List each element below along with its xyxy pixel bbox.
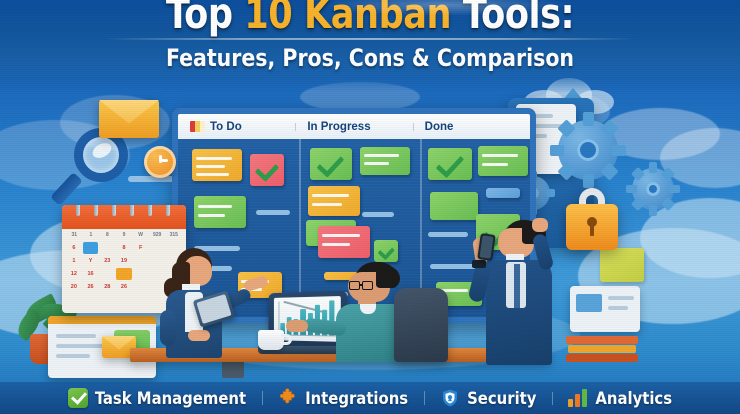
title-divider	[105, 38, 635, 40]
calendar-date[interactable]: 12	[66, 268, 82, 280]
page-subtitle: Features, Pros, Cons & Comparison	[19, 44, 722, 72]
feature-bar: Task Management Integrations Security	[0, 382, 740, 414]
calendar-weekday: 1	[83, 232, 100, 238]
kanban-placeholder-bar	[362, 212, 394, 217]
board-column-headers: To Do In Progress Done	[178, 114, 530, 139]
glow-accent	[320, 0, 570, 16]
calendar-date[interactable]: 19	[116, 255, 132, 267]
calendar-date[interactable]	[133, 268, 149, 280]
feature-item-security[interactable]: Security	[424, 388, 552, 408]
shield-icon	[440, 388, 460, 408]
feature-label: Analytics	[595, 389, 672, 408]
feature-item-task-management[interactable]: Task Management	[52, 388, 262, 408]
calendar-weekday: 8	[99, 232, 116, 238]
calendar-date[interactable]	[99, 268, 115, 280]
calendar-date[interactable]: 6	[66, 242, 82, 254]
kanban-placeholder-bar	[256, 210, 290, 215]
kanban-card[interactable]	[194, 196, 246, 228]
feature-label: Security	[467, 389, 536, 408]
calendar-date[interactable]: 23	[99, 255, 115, 267]
column-label: Done	[425, 121, 454, 133]
feature-item-integrations[interactable]: Integrations	[262, 388, 424, 408]
calendar-date[interactable]: Y	[83, 255, 99, 267]
clock-icon	[144, 146, 176, 178]
calendar-date[interactable]	[83, 242, 99, 254]
poster-canvas: 31189W929315 68F1Y2319121620262826	[0, 0, 740, 414]
check-icon	[68, 388, 88, 408]
calendar-weekday: 31	[66, 232, 83, 238]
kanban-card[interactable]	[428, 148, 472, 180]
calendar-date[interactable]: 28	[99, 281, 115, 293]
board-logo-icon	[190, 121, 205, 132]
kanban-card[interactable]	[308, 186, 360, 216]
calendar-date[interactable]	[99, 242, 115, 254]
kanban-card[interactable]	[318, 226, 370, 258]
kanban-placeholder-bar	[428, 232, 468, 237]
calendar-date[interactable]	[116, 268, 132, 280]
sticky-note-right	[600, 248, 644, 282]
kanban-card[interactable]	[478, 146, 528, 176]
column-header-todo[interactable]: To Do	[178, 121, 295, 133]
gear-icon-large	[558, 120, 618, 180]
title-part-1: Top	[166, 0, 244, 38]
column-header-done[interactable]: Done	[413, 121, 530, 133]
calendar-date[interactable]	[133, 281, 149, 293]
envelope-icon	[99, 100, 159, 138]
calendar-weekday: 315	[165, 232, 182, 238]
calendar-date[interactable]: 8	[116, 242, 132, 254]
puzzle-icon	[278, 388, 298, 408]
office-chair	[394, 288, 448, 362]
kanban-card[interactable]	[430, 192, 478, 220]
feature-item-analytics[interactable]: Analytics	[552, 389, 688, 408]
kanban-card[interactable]	[310, 148, 352, 180]
kanban-card[interactable]	[250, 154, 284, 186]
gear-icon-medium	[632, 168, 674, 210]
kanban-card[interactable]	[374, 240, 398, 262]
calendar-date[interactable]: 20	[66, 281, 82, 293]
calendar-date[interactable]	[133, 255, 149, 267]
kanban-card[interactable]	[360, 147, 410, 175]
calendar-date[interactable]: F	[133, 242, 149, 254]
column-divider	[299, 139, 301, 317]
kanban-card[interactable]	[486, 188, 520, 198]
calendar-date[interactable]: 16	[83, 268, 99, 280]
calendar-date[interactable]: 1	[66, 255, 82, 267]
mail-card-right	[570, 286, 640, 332]
calendar-weekday: 9	[116, 232, 133, 238]
column-header-inprogress[interactable]: In Progress	[295, 121, 412, 133]
calendar-weekday: W	[132, 232, 149, 238]
kanban-card[interactable]	[192, 149, 242, 181]
column-label: In Progress	[307, 121, 370, 133]
calendar-date[interactable]: 26	[83, 281, 99, 293]
bar-chart-icon	[568, 389, 588, 407]
feature-label: Task Management	[95, 389, 246, 408]
desk-leg	[222, 362, 244, 378]
calendar-weekdays: 31189W929315	[62, 229, 186, 241]
calendar-date[interactable]: 26	[116, 281, 132, 293]
feature-label: Integrations	[305, 389, 408, 408]
calendar-weekday: 929	[149, 232, 166, 238]
column-label: To Do	[210, 121, 242, 133]
